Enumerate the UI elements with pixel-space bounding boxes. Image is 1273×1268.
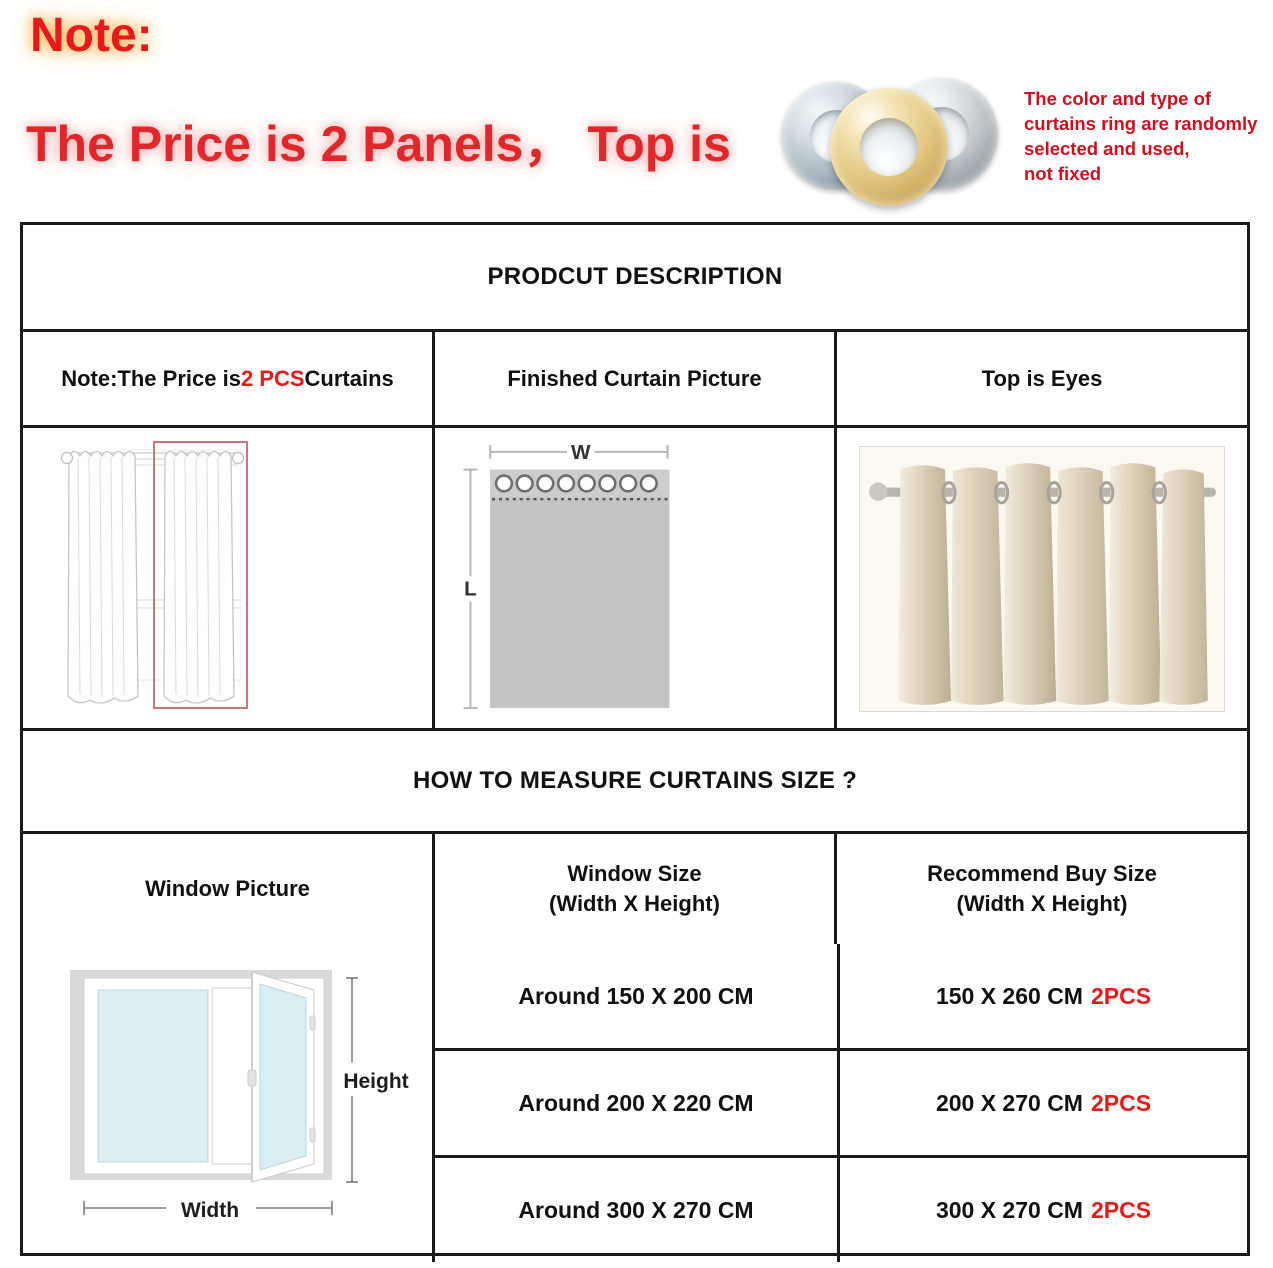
header-note-price-pcs: Note:The Price is 2 PCSCurtains [23,332,432,425]
recommend-pcs-badge: 2PCS [1091,1197,1151,1224]
finished-curtain-measure-cell: W L [432,428,837,728]
window-size-value: Around 200 X 220 CM [435,1051,840,1155]
recommend-line1: Recommend Buy Size [927,859,1157,889]
measure-band: HOW TO MEASURE CURTAINS SIZE ? [23,728,1247,834]
recommend-size-text: 150 X 260 CM [936,983,1083,1010]
header-banner: Note: The Price is 2 Panels， Top is The … [0,0,1273,216]
width-label: Width [180,1199,238,1222]
height-label: Height [343,1070,408,1093]
measure-column-headers: Window Picture Window Size (Width X Heig… [23,834,1247,944]
two-panel-lineart-cell [23,428,432,728]
note-prefix: Note:The Price is [61,366,241,392]
recommend-size-value: 150 X 260 CM2PCS [840,944,1247,1048]
width-label: W [571,441,591,464]
recommend-size-text: 300 X 270 CM [936,1197,1083,1224]
note-suffix: Curtains [305,366,394,392]
recommend-pcs-badge: 2PCS [1091,983,1151,1010]
measure-body-row: Height Width Around 150 X 200 CM 150 X 2… [23,944,1247,1262]
ring-color-disclaimer: The color and type of curtains ring are … [1024,86,1273,187]
grommet-curtain-photo [859,446,1225,712]
table-row: Around 200 X 220 CM 200 X 270 CM2PCS [435,1048,1247,1155]
curtain-wl-diagram: W L [435,428,834,728]
two-panel-curtain-diagram [23,428,432,728]
header-recommend-buy-size: Recommend Buy Size (Width X Height) [837,834,1247,944]
ring-hole [860,118,918,176]
ring-note-line: The color and type of [1024,86,1273,111]
table-row: Around 300 X 270 CM 300 X 270 CM2PCS [435,1155,1247,1262]
product-description-band: PRODCUT DESCRIPTION [23,225,1247,332]
product-description-table: PRODCUT DESCRIPTION Note:The Price is 2 … [20,222,1250,1256]
note-label: Note: [30,8,153,63]
size-rows: Around 150 X 200 CM 150 X 260 CM2PCS Aro… [432,944,1247,1262]
recommend-size-value: 200 X 270 CM2PCS [840,1051,1247,1155]
note-red-pcs: 2 PCS [241,366,305,392]
length-label: L [464,578,477,601]
curtain-photo-art [860,447,1224,711]
ring-note-line: not fixed [1024,161,1273,186]
ring-note-line: selected and used, [1024,136,1273,161]
grommet-ring-gold-icon [830,88,948,206]
window-size-value: Around 300 X 270 CM [435,1158,840,1262]
recommend-line2: (Width X Height) [957,889,1128,919]
grommet-rings-illustration [782,72,1012,200]
description-column-headers: Note:The Price is 2 PCSCurtains Finished… [23,332,1247,428]
window-size-line2: (Width X Height) [549,889,720,919]
header-finished-curtain-picture: Finished Curtain Picture [432,332,837,425]
recommend-size-text: 200 X 270 CM [936,1090,1083,1117]
window-picture-cell: Height Width [23,944,432,1256]
recommend-size-value: 300 X 270 CM2PCS [840,1158,1247,1262]
header-window-picture: Window Picture [23,834,432,944]
window-size-value: Around 150 X 200 CM [435,944,840,1048]
recommend-pcs-badge: 2PCS [1091,1090,1151,1117]
window-size-line1: Window Size [567,859,701,889]
description-picture-row: W L [23,428,1247,728]
table-row: Around 150 X 200 CM 150 X 260 CM2PCS [435,944,1247,1048]
grommet-curtain-photo-cell [837,428,1247,728]
ring-note-line: curtains ring are randomly [1024,111,1273,136]
window-diagram: Height Width [38,950,418,1250]
header-window-size: Window Size (Width X Height) [432,834,837,944]
headline-price-panels: The Price is 2 Panels， Top is [26,104,731,176]
header-top-is-eyes: Top is Eyes [837,332,1247,425]
